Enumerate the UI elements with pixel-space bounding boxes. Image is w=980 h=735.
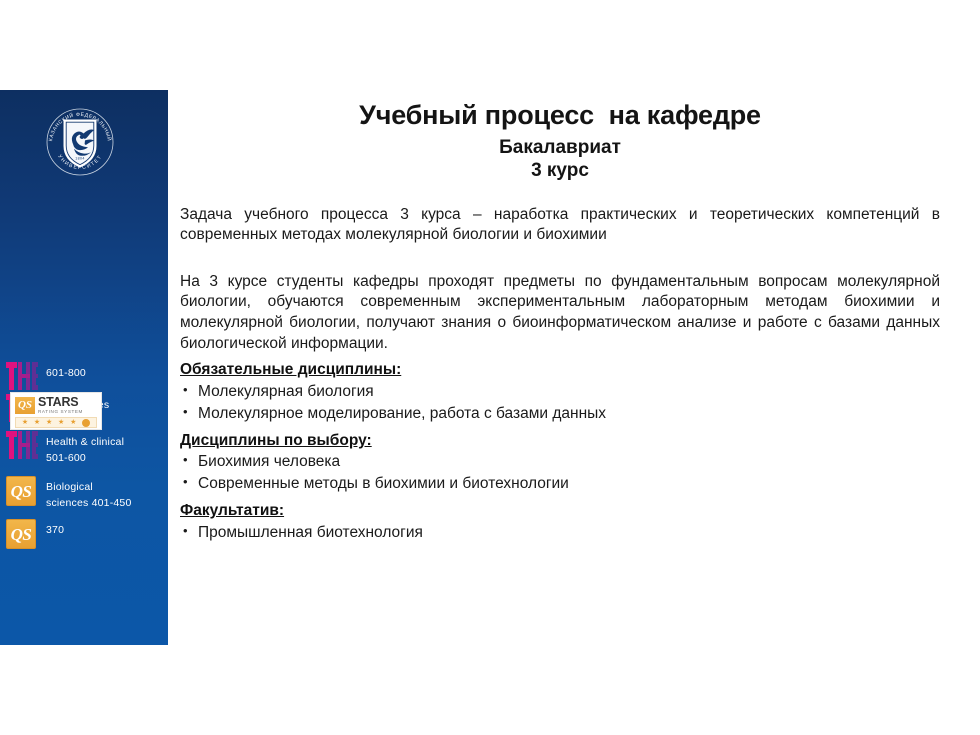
ranking-row-the-health-clinical: Health & clinical 501-600 <box>0 431 168 466</box>
slide-content: Учебный процесс на кафедре Бакалавриат 3… <box>180 100 940 544</box>
section-heading-wrap: Обязательные дисциплины: <box>180 356 940 380</box>
section-heading: Дисциплины по выбору: <box>180 431 372 451</box>
section-heading: Обязательные дисциплины: <box>180 360 401 380</box>
svg-text:1804: 1804 <box>75 157 84 161</box>
paragraph-description: На 3 курсе студенты кафедры проходят пре… <box>180 272 940 354</box>
page-subtitle-year: 3 курс <box>180 160 940 183</box>
list-item: Современные методы в биохимии и биотехно… <box>180 473 940 495</box>
qs-stars-subtitle: RATING SYSTEM <box>38 410 83 415</box>
section-heading-wrap: Факультатив: <box>180 497 940 521</box>
kazan-federal-university-seal-icon: КАЗАНСКИЙ ФЕДЕРАЛЬНЫЙ УНИВЕРСИТЕТ 1804 <box>42 104 118 180</box>
section-mandatory-disciplines: Обязательные дисциплины: Молекулярная би… <box>180 356 940 424</box>
star-icon: ★ <box>58 419 64 426</box>
qs-logo-label: QS <box>6 476 36 506</box>
list-item: Молекулярная биология <box>180 381 940 403</box>
times-higher-education-logo-icon <box>6 362 38 392</box>
rankings-list: 601-800 Life sciences 401-500 <box>0 362 168 551</box>
times-higher-education-logo-icon <box>6 431 38 461</box>
section-elective-disciplines: Дисциплины по выбору: Биохимия человека … <box>180 427 940 495</box>
star-icon: ★ <box>46 419 52 426</box>
qs-stars-rating-badge: QS STARS RATING SYSTEM ★ ★ ★ ★ ★ <box>10 392 102 430</box>
ranking-text: Biological sciences 401-450 <box>46 476 132 511</box>
ranking-text: 601-800 <box>46 362 86 381</box>
presentation-slide: КАЗАНСКИЙ ФЕДЕРАЛЬНЫЙ УНИВЕРСИТЕТ 1804 <box>0 0 980 735</box>
section-heading: Факультатив: <box>180 501 284 521</box>
ranking-text: Health & clinical 501-600 <box>46 431 124 466</box>
ranking-text: 370 <box>46 519 64 538</box>
qs-logo-label: QS <box>6 519 36 549</box>
ranking-row-the-overall: 601-800 <box>0 362 168 392</box>
page-title: Учебный процесс на кафедре <box>180 100 940 131</box>
section-heading-wrap: Дисциплины по выбору: <box>180 427 940 451</box>
list-item: Молекулярное моделирование, работа с баз… <box>180 403 940 425</box>
ranking-row-qs-overall: QS 370 <box>0 519 168 549</box>
ranking-row-qs-biological-sciences: QS Biological sciences 401-450 <box>0 476 168 511</box>
qs-stars-wordmark: STARS RATING SYSTEM <box>38 396 83 414</box>
qs-stars-rating-strip: ★ ★ ★ ★ ★ <box>15 417 97 428</box>
qs-logo-icon: QS <box>6 476 38 506</box>
list-item: Биохимия человека <box>180 451 940 473</box>
qs-stars-title: STARS <box>38 396 83 409</box>
star-icon: ★ <box>34 419 40 426</box>
page-subtitle-degree: Бакалавриат <box>180 137 940 160</box>
qs-logo-icon: QS <box>6 519 38 549</box>
sidebar-panel: КАЗАНСКИЙ ФЕДЕРАЛЬНЫЙ УНИВЕРСИТЕТ 1804 <box>0 90 168 645</box>
star-icon: ★ <box>70 419 76 426</box>
paragraph-objective: Задача учебного процесса 3 курса – нараб… <box>180 205 940 246</box>
qs-stars-header: QS STARS RATING SYSTEM <box>15 396 97 414</box>
section-optional-course: Факультатив: Промышленная биотехнология <box>180 497 940 543</box>
list-item: Промышленная биотехнология <box>180 522 940 544</box>
rating-dot-icon <box>82 419 90 427</box>
star-icon: ★ <box>22 419 28 426</box>
qs-stars-logo-icon: QS <box>15 397 35 414</box>
